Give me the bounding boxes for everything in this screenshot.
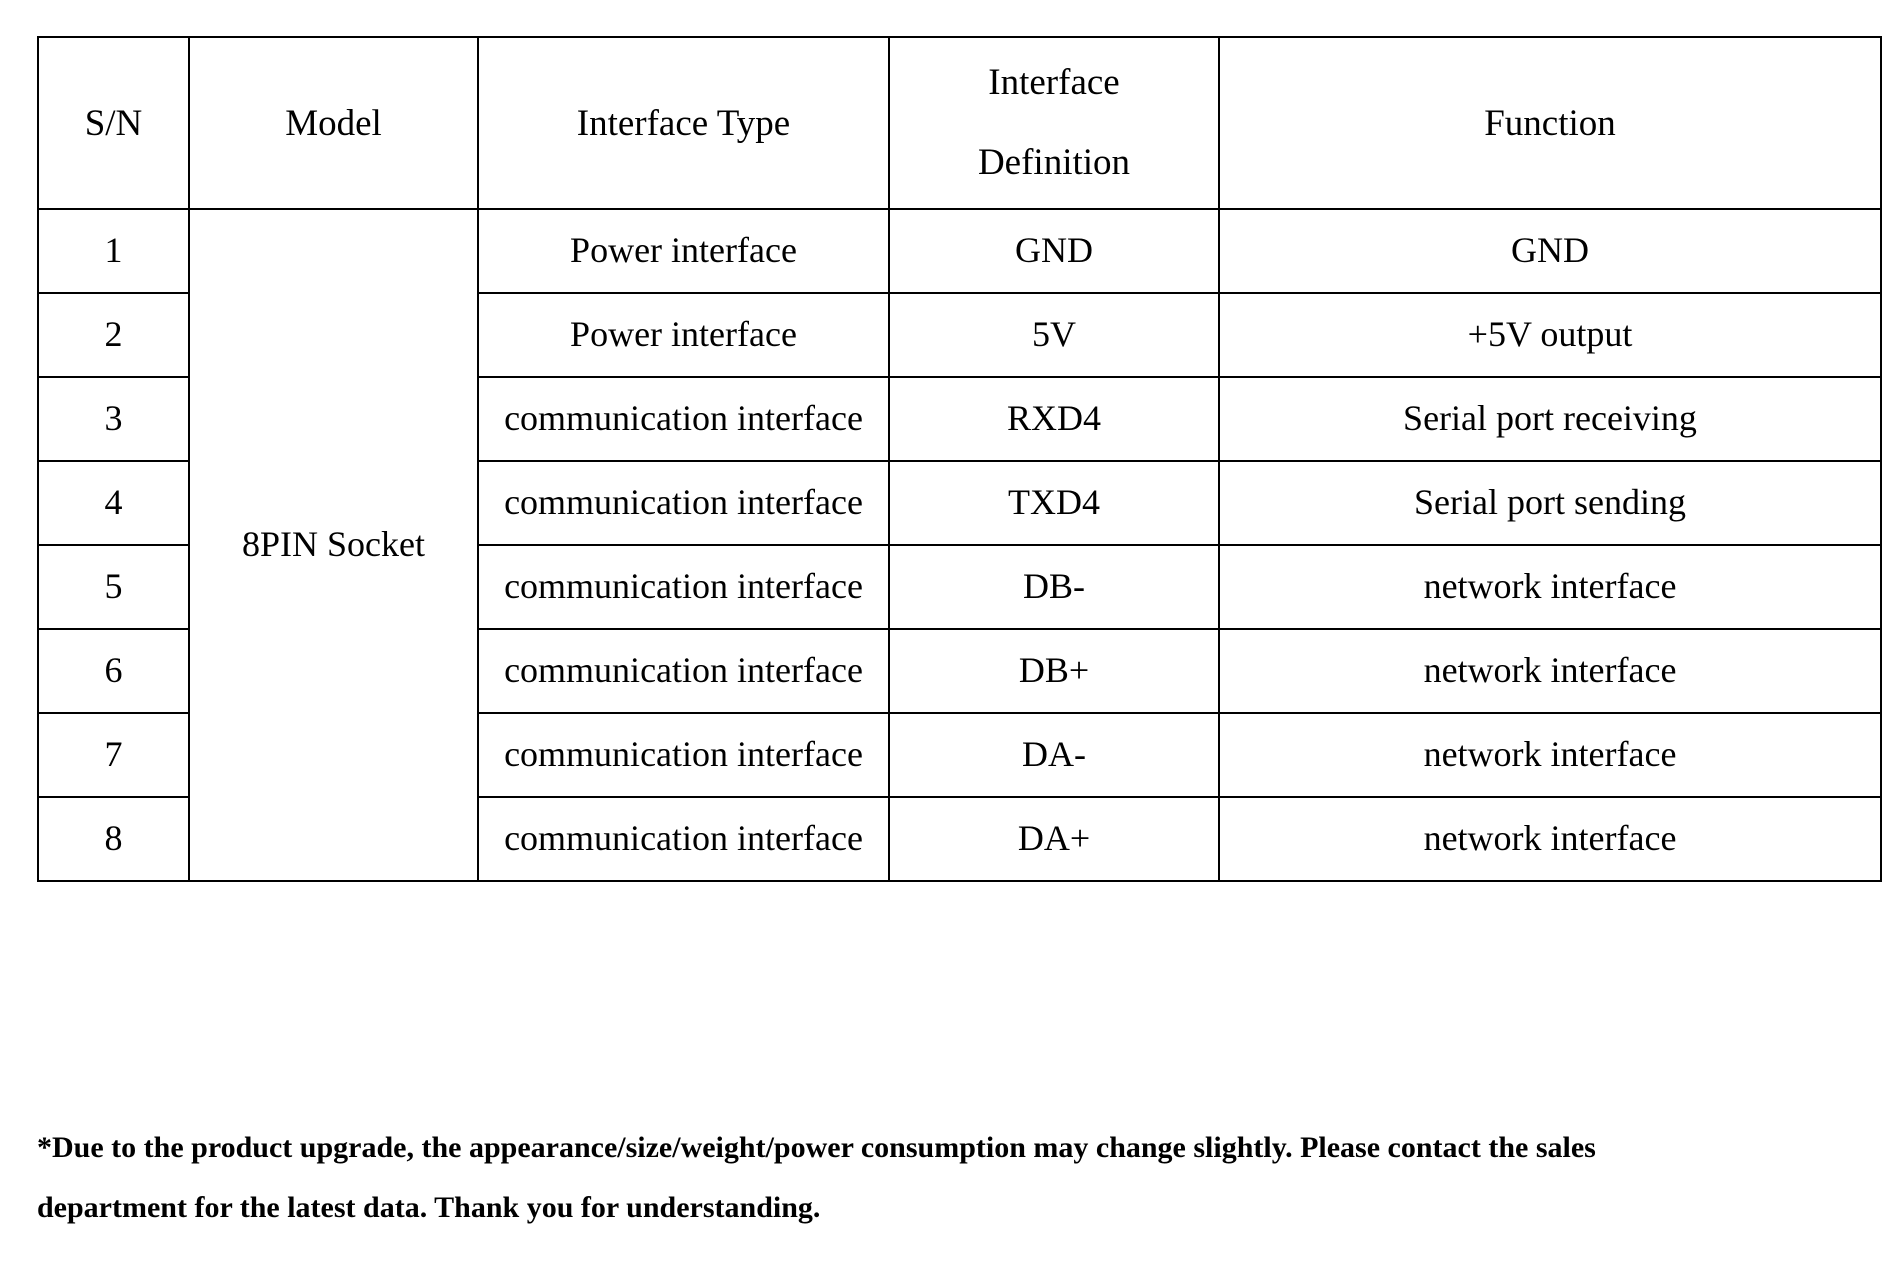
- interface-spec-table: S/N Model Interface Type Interface Defin…: [37, 36, 1882, 882]
- column-header-model: Model: [189, 37, 478, 209]
- cell-interface-definition: GND: [889, 209, 1219, 293]
- cell-interface-type: communication interface: [478, 713, 889, 797]
- cell-sn: 8: [38, 797, 189, 881]
- cell-function: Serial port sending: [1219, 461, 1881, 545]
- column-header-function: Function: [1219, 37, 1881, 209]
- cell-function: network interface: [1219, 545, 1881, 629]
- cell-interface-type: communication interface: [478, 461, 889, 545]
- cell-function: network interface: [1219, 713, 1881, 797]
- cell-interface-definition: TXD4: [889, 461, 1219, 545]
- table-row: 1 8PIN Socket Power interface GND GND: [38, 209, 1881, 293]
- cell-interface-type: Power interface: [478, 293, 889, 377]
- cell-sn: 4: [38, 461, 189, 545]
- cell-sn: 7: [38, 713, 189, 797]
- footnote-disclaimer: *Due to the product upgrade, the appeara…: [37, 1118, 1837, 1238]
- cell-interface-definition: DA+: [889, 797, 1219, 881]
- column-header-sn: S/N: [38, 37, 189, 209]
- cell-sn: 6: [38, 629, 189, 713]
- cell-interface-type: communication interface: [478, 377, 889, 461]
- cell-interface-type: communication interface: [478, 545, 889, 629]
- cell-interface-definition: RXD4: [889, 377, 1219, 461]
- cell-function: network interface: [1219, 629, 1881, 713]
- column-header-interface-definition: Interface Definition: [889, 37, 1219, 209]
- cell-model-merged: 8PIN Socket: [189, 209, 478, 881]
- column-header-interface-definition-line2: Definition: [896, 123, 1212, 203]
- cell-interface-definition: DA-: [889, 713, 1219, 797]
- table-body: 1 8PIN Socket Power interface GND GND 2 …: [38, 209, 1881, 881]
- cell-interface-type: communication interface: [478, 629, 889, 713]
- page-root: S/N Model Interface Type Interface Defin…: [0, 0, 1885, 1267]
- cell-sn: 3: [38, 377, 189, 461]
- cell-interface-type: Power interface: [478, 209, 889, 293]
- cell-interface-definition: DB-: [889, 545, 1219, 629]
- column-header-interface-type: Interface Type: [478, 37, 889, 209]
- cell-interface-definition: 5V: [889, 293, 1219, 377]
- cell-sn: 5: [38, 545, 189, 629]
- interface-spec-table-container: S/N Model Interface Type Interface Defin…: [37, 36, 1880, 882]
- cell-function: +5V output: [1219, 293, 1881, 377]
- cell-function: GND: [1219, 209, 1881, 293]
- footnote-line-1: *Due to the product upgrade, the appeara…: [37, 1118, 1837, 1178]
- cell-sn: 1: [38, 209, 189, 293]
- cell-interface-type: communication interface: [478, 797, 889, 881]
- column-header-interface-definition-line1: Interface: [896, 43, 1212, 123]
- cell-sn: 2: [38, 293, 189, 377]
- cell-function: network interface: [1219, 797, 1881, 881]
- table-header: S/N Model Interface Type Interface Defin…: [38, 37, 1881, 209]
- cell-interface-definition: DB+: [889, 629, 1219, 713]
- footnote-line-2: department for the latest data. Thank yo…: [37, 1178, 1837, 1238]
- table-header-row: S/N Model Interface Type Interface Defin…: [38, 37, 1881, 209]
- cell-function: Serial port receiving: [1219, 377, 1881, 461]
